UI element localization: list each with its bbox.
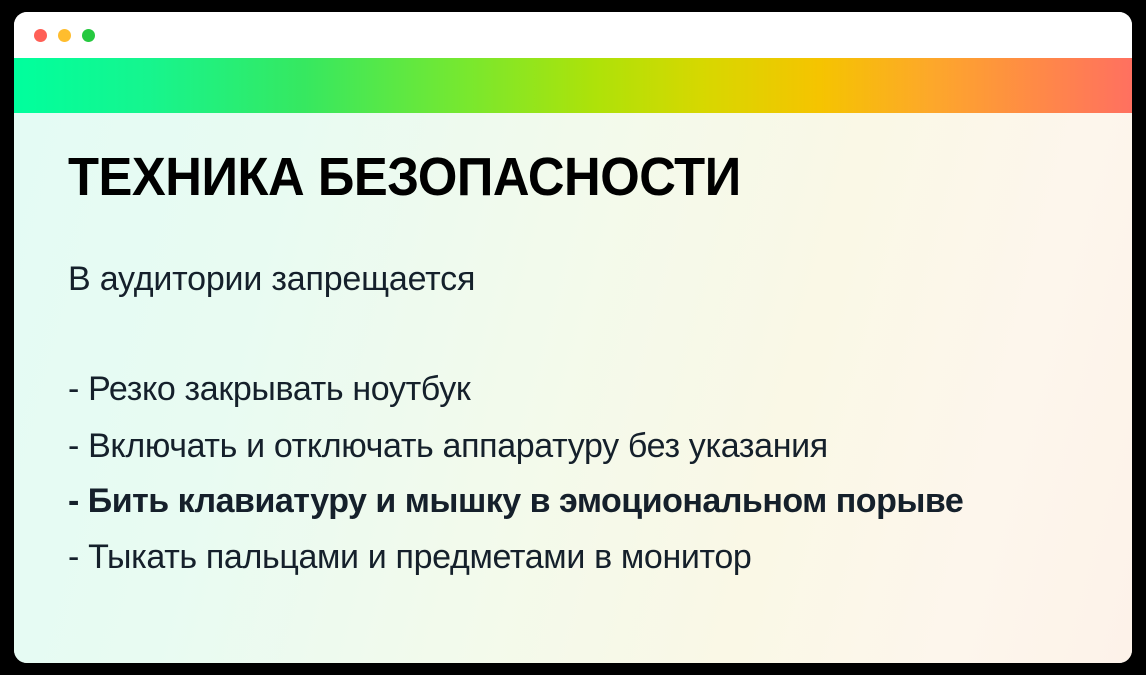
maximize-window-button[interactable] (82, 29, 95, 42)
traffic-light-controls (34, 29, 95, 42)
rules-list: - Резко закрывать ноутбук - Включать и о… (68, 361, 1084, 585)
list-item-dash: - (68, 370, 79, 408)
slide-title: ТЕХНИКА БЕЗОПАСНОСТИ (68, 149, 1023, 205)
list-item-dash: - (68, 427, 79, 465)
list-item-label: Включать и отключать аппаратуру без указ… (88, 427, 828, 465)
list-item: - Резко закрывать ноутбук (68, 361, 1084, 417)
slide-content: ТЕХНИКА БЕЗОПАСНОСТИ В аудитории запреща… (14, 113, 1132, 663)
browser-window: ТЕХНИКА БЕЗОПАСНОСТИ В аудитории запреща… (14, 12, 1132, 663)
gradient-accent-band (14, 58, 1132, 113)
list-item-label: Резко закрывать ноутбук (88, 370, 470, 408)
list-item: - Тыкать пальцами и предметами в монитор (68, 529, 1084, 585)
list-item-label: Тыкать пальцами и предметами в монитор (88, 538, 751, 576)
list-item-label: Бить клавиатуру и мышку в эмоциональном … (88, 482, 963, 520)
slide-subtitle: В аудитории запрещается (68, 260, 1084, 299)
close-window-button[interactable] (34, 29, 47, 42)
minimize-window-button[interactable] (58, 29, 71, 42)
list-item-dash: - (68, 482, 79, 520)
window-titlebar (14, 12, 1132, 58)
list-item: - Бить клавиатуру и мышку в эмоционально… (68, 474, 1084, 529)
list-item-dash: - (68, 538, 79, 576)
list-item: - Включать и отключать аппаратуру без ук… (68, 418, 1084, 474)
